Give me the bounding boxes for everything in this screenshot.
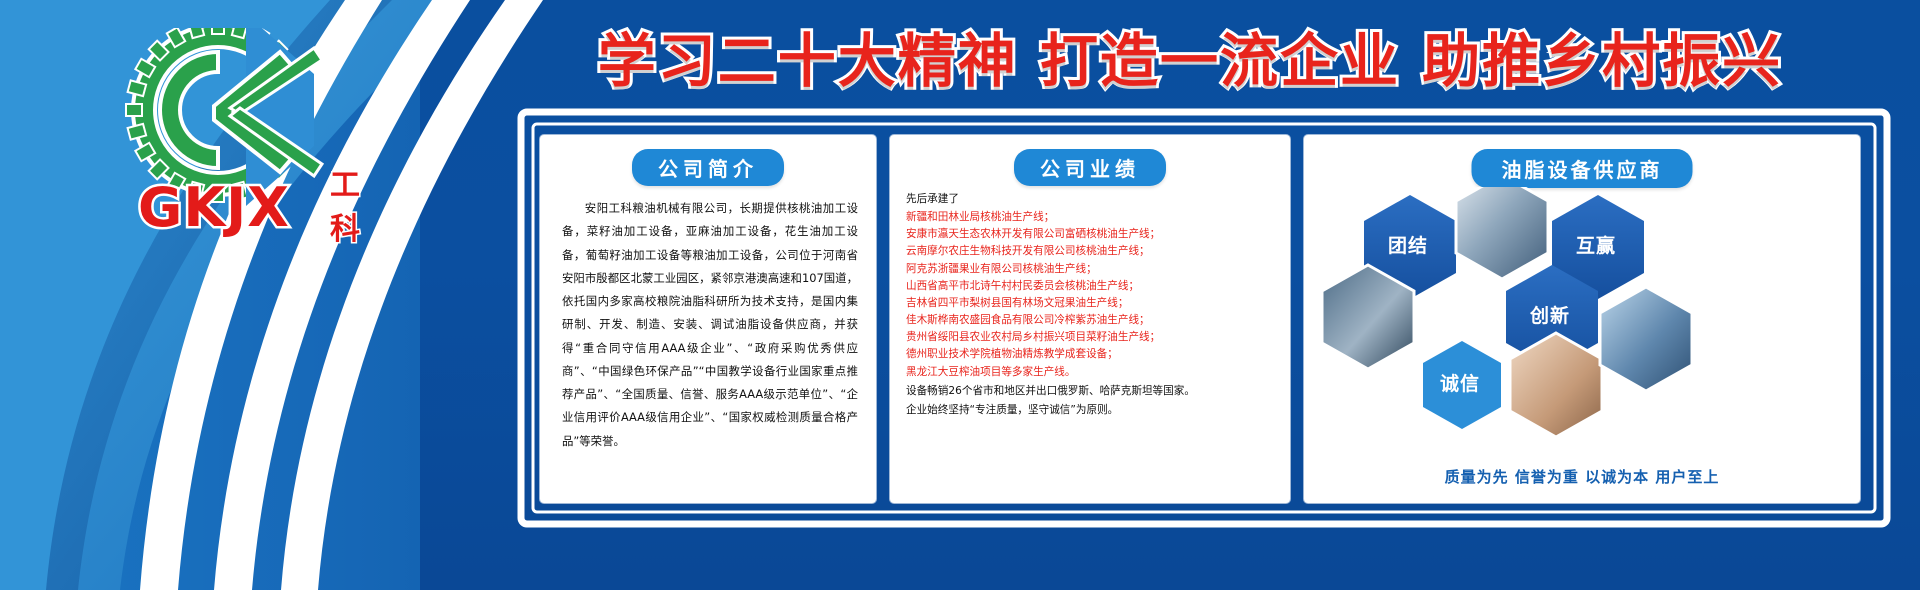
logo-en-text: GKJX [138, 176, 290, 239]
performance-item: 贵州省绥阳县农业农村局乡村振兴项目菜籽油生产线； [906, 329, 1280, 346]
performance-item: 黑龙江大豆榨油项目等多家生产线。 [906, 364, 1280, 381]
performance-item-list: 新疆和田林业局核桃油生产线；安康市瀛天生态农林开发有限公司富硒核桃油生产线；云南… [906, 209, 1280, 381]
logo-cn-text: 工科 [330, 160, 361, 248]
performance-item: 山西省高平市北诗午村村民委员会核桃油生产线； [906, 278, 1280, 295]
card-intro-title: 公司简介 [632, 149, 784, 186]
performance-note: 设备畅销26个省市和地区并出口俄罗斯、哈萨克斯坦等国家。 [906, 383, 1280, 400]
supplier-slogan: 质量为先 信誉为重 以诚为本 用户至上 [1304, 466, 1860, 487]
card-performance-title: 公司业绩 [1014, 149, 1166, 186]
hexagon-cluster: 团结 互赢 创新 诚信 [1304, 187, 1860, 439]
hex-label-unity: 团结 [1388, 231, 1428, 258]
performance-item: 云南摩尔农庄生物科技开发有限公司核桃油生产线； [906, 243, 1280, 260]
performance-item: 吉林省四平市梨树县国有林场文冠果油生产线； [906, 295, 1280, 312]
performance-item: 安康市瀛天生态农林开发有限公司富硒核桃油生产线； [906, 226, 1280, 243]
company-logo: 工科 GKJX [118, 28, 348, 208]
performance-item: 佳木斯桦南农盛园食品有限公司冷榨紫苏油生产线； [906, 312, 1280, 329]
performance-tail-list: 设备畅销26个省市和地区并出口俄罗斯、哈萨克斯坦等国家。企业始终坚持“专注质量，… [906, 383, 1280, 419]
performance-note: 企业始终坚持“专注质量，坚守诚信”为原则。 [906, 402, 1280, 419]
card-company-performance: 公司业绩 先后承建了 新疆和田林业局核桃油生产线；安康市瀛天生态农林开发有限公司… [890, 135, 1290, 503]
card-intro-body: 安阳工科粮油机械有限公司，长期提供核桃油加工设备，菜籽油加工设备，亚麻油加工设备… [562, 197, 858, 453]
hex-label-winwin: 互赢 [1576, 231, 1616, 258]
hex-label-integrity: 诚信 [1440, 369, 1480, 396]
card-performance-body: 先后承建了 新疆和田林业局核桃油生产线；安康市瀛天生态农林开发有限公司富硒核桃油… [906, 191, 1280, 419]
performance-lead: 先后承建了 [906, 191, 1280, 208]
banner-root: 学习二十大精神 打造一流企业 助推乡村振兴 [0, 0, 1920, 590]
performance-item: 德州职业技术学院植物油精炼教学成套设备； [906, 346, 1280, 363]
card-equipment-supplier: 油脂设备供应商 [1304, 135, 1860, 503]
page-title: 学习二十大精神 打造一流企业 助推乡村振兴 [480, 18, 1900, 94]
hex-label-innovation: 创新 [1530, 301, 1570, 328]
performance-item: 阿克苏浙疆果业有限公司核桃油生产线； [906, 261, 1280, 278]
card-supplier-title: 油脂设备供应商 [1472, 149, 1693, 188]
card-company-intro: 公司简介 安阳工科粮油机械有限公司，长期提供核桃油加工设备，菜籽油加工设备，亚麻… [540, 135, 876, 503]
performance-item: 新疆和田林业局核桃油生产线； [906, 209, 1280, 226]
content-cards: 公司简介 安阳工科粮油机械有限公司，长期提供核桃油加工设备，菜籽油加工设备，亚麻… [540, 135, 1862, 503]
